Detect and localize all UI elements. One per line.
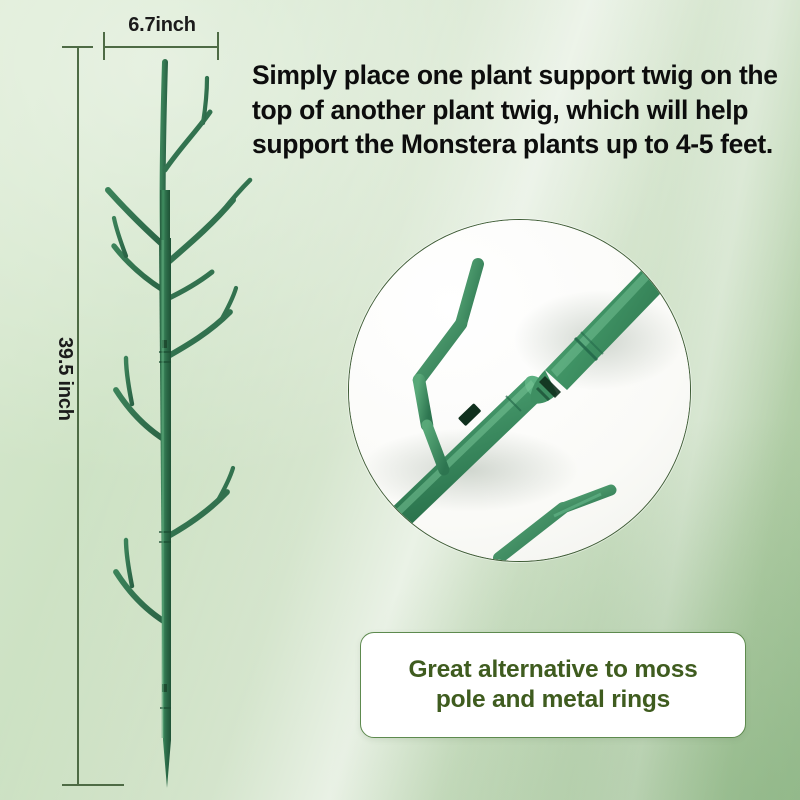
plant-support-twig-illustration xyxy=(70,40,260,790)
headline-text: Simply place one plant support twig on t… xyxy=(252,58,784,162)
callout-line-1: Great alternative to moss xyxy=(408,656,697,683)
callout-text: Great alternative to moss pole and metal… xyxy=(394,655,711,715)
callout-line-2: pole and metal rings xyxy=(436,686,670,713)
callout-box: Great alternative to moss pole and metal… xyxy=(360,632,746,738)
width-dimension-label: 6.7inch xyxy=(103,14,221,37)
connector-detail-inset xyxy=(348,219,691,562)
infographic-canvas: 6.7inch 39.5 inch Simply place one plant… xyxy=(0,0,800,800)
